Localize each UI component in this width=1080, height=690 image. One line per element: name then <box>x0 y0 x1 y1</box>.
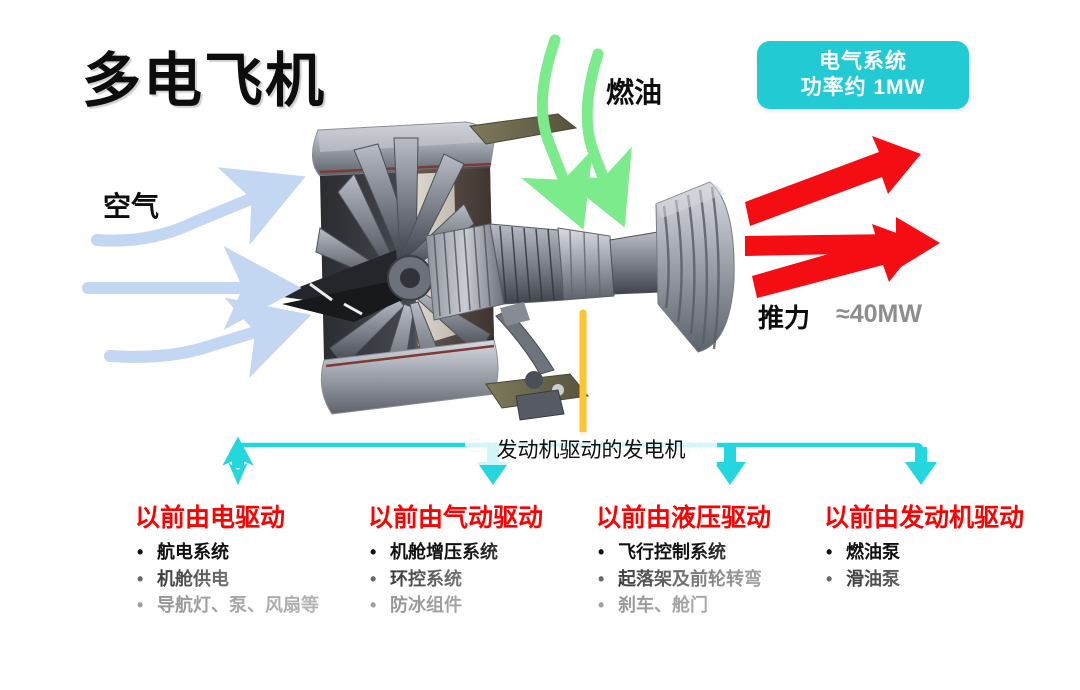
engine-illustration <box>258 108 740 453</box>
electrical-system-badge: 电气系统 功率约 1MW <box>757 41 969 109</box>
list-item: 机舱供电 <box>135 566 319 593</box>
column-hydraulic: 以前由液压驱动 飞行控制系统 起落架及前轮转弯 刹车、舱门 <box>596 498 771 619</box>
column-heading: 以前由发动机驱动 <box>824 498 1024 534</box>
column-heading: 以前由液压驱动 <box>596 498 771 534</box>
list-item: 防冰组件 <box>368 592 543 619</box>
list-item: 环控系统 <box>368 566 543 593</box>
thrust-arrows <box>745 136 940 298</box>
column-item-list: 燃油泵 滑油泵 <box>824 539 1024 592</box>
column-heading: 以前由气动驱动 <box>368 498 543 534</box>
air-label: 空气 <box>103 185 159 225</box>
fuel-label: 燃油 <box>606 71 662 111</box>
thrust-value: ≈40MW <box>836 300 922 329</box>
engine-cutaway-image <box>258 108 740 453</box>
list-item: 机舱增压系统 <box>368 539 543 566</box>
diagram-canvas: 多电飞机 电气系统 功率约 1MW <box>0 0 1080 690</box>
column-item-list: 航电系统 机舱供电 导航灯、泵、风扇等 <box>135 539 319 619</box>
generator-label-text: 发动机驱动的发电机 <box>497 434 686 464</box>
thrust-label: 推力 <box>758 298 810 335</box>
generator-label: 发动机驱动的发电机 <box>465 432 717 465</box>
badge-line-2: 功率约 1MW <box>801 75 926 101</box>
column-electric: 以前由电驱动 航电系统 机舱供电 导航灯、泵、风扇等 <box>135 498 319 619</box>
column-item-list: 飞行控制系统 起落架及前轮转弯 刹车、舱门 <box>596 539 771 619</box>
list-item: 航电系统 <box>135 539 319 566</box>
list-item: 导航灯、泵、风扇等 <box>135 592 319 619</box>
column-engine-driven: 以前由发动机驱动 燃油泵 滑油泵 <box>824 498 1024 592</box>
list-item: 起落架及前轮转弯 <box>596 566 771 593</box>
column-item-list: 机舱增压系统 环控系统 防冰组件 <box>368 539 543 619</box>
page-title: 多电飞机 <box>82 33 326 118</box>
list-item: 燃油泵 <box>824 539 1024 566</box>
column-pneumatic: 以前由气动驱动 机舱增压系统 环控系统 防冰组件 <box>368 498 543 619</box>
list-item: 飞行控制系统 <box>596 539 771 566</box>
column-heading: 以前由电驱动 <box>135 498 319 534</box>
list-item: 滑油泵 <box>824 566 1024 593</box>
list-item: 刹车、舱门 <box>596 592 771 619</box>
badge-line-1: 电气系统 <box>819 49 907 75</box>
systems-columns: 以前由电驱动 航电系统 机舱供电 导航灯、泵、风扇等 以前由气动驱动 机舱增压系… <box>0 498 1080 648</box>
